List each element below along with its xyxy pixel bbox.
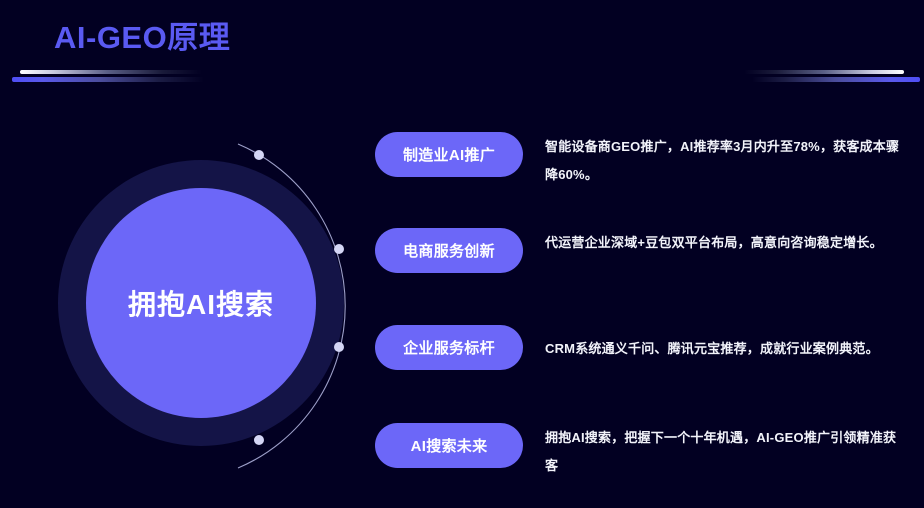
pill-button-manufacturing[interactable]: 制造业AI推广 — [375, 132, 523, 177]
orbit-dot-1 — [254, 150, 264, 160]
row-description: 智能设备商GEO推广，AI推荐率3月内升至78%，获客成本骤降60%。 — [545, 127, 903, 189]
content-row: 企业服务标杆 CRM系统通义千问、腾讯元宝推荐，成就行业案例典范。 — [375, 320, 920, 376]
header-rule-right-top — [744, 70, 904, 74]
content-row: AI搜索未来 拥抱AI搜索，把握下一个十年机遇，AI-GEO推广引领精准获客 — [375, 418, 920, 474]
slide-header: AI-GEO原理 — [0, 0, 924, 100]
content-row: 制造业AI推广 智能设备商GEO推广，AI推荐率3月内升至78%，获客成本骤降6… — [375, 127, 920, 183]
orbit-dot-4 — [254, 435, 264, 445]
content-row: 电商服务创新 代运营企业深域+豆包双平台布局，高意向咨询稳定增长。 — [375, 223, 920, 279]
orbit-dot-2 — [334, 244, 344, 254]
pill-label: 制造业AI推广 — [403, 144, 495, 165]
pill-button-ecommerce[interactable]: 电商服务创新 — [375, 228, 523, 273]
header-rule-left-bottom — [12, 77, 204, 82]
orbit-arc-path — [238, 144, 345, 468]
row-description: CRM系统通义千问、腾讯元宝推荐，成就行业案例典范。 — [545, 320, 903, 363]
pill-label: 电商服务创新 — [403, 240, 495, 261]
pill-button-future[interactable]: AI搜索未来 — [375, 423, 523, 468]
row-description: 拥抱AI搜索，把握下一个十年机遇，AI-GEO推广引领精准获客 — [545, 418, 903, 480]
header-rule-left-top — [20, 70, 202, 74]
page-title: AI-GEO原理 — [54, 19, 230, 57]
orbit-arc — [48, 136, 368, 476]
pill-label: 企业服务标杆 — [403, 337, 495, 358]
row-description: 代运营企业深域+豆包双平台布局，高意向咨询稳定增长。 — [545, 223, 903, 257]
pill-label: AI搜索未来 — [411, 435, 488, 456]
pill-button-enterprise[interactable]: 企业服务标杆 — [375, 325, 523, 370]
orbit-dot-3 — [334, 342, 344, 352]
center-circle-group: 拥抱AI搜索 — [48, 136, 368, 476]
header-rule-right-bottom — [752, 77, 920, 82]
slide-canvas: AI-GEO原理 拥抱AI搜索 制造业AI推广 智能设备商GEO推广，AI推荐率… — [0, 0, 924, 508]
